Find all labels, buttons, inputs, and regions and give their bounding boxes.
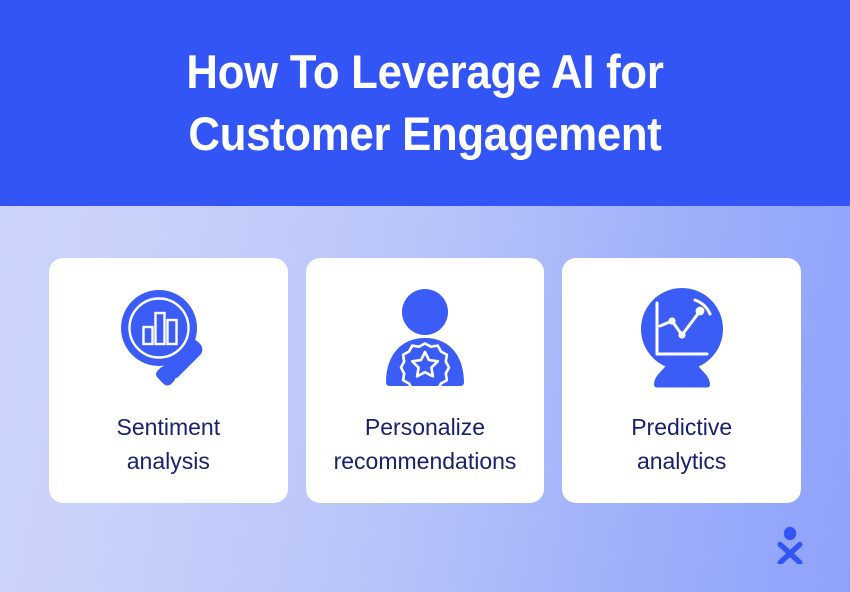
magnifying-glass-bar-chart-icon <box>109 280 227 398</box>
person-star-badge-icon <box>366 280 484 398</box>
card-label-line-1: Predictive <box>631 414 732 440</box>
card-label-line-2: analysis <box>127 448 210 474</box>
crystal-ball-line-chart-icon <box>623 280 741 398</box>
card-label-sentiment-analysis: Sentiment analysis <box>107 410 231 478</box>
page-title-line-1: How To Leverage AI for <box>186 45 663 98</box>
card-label-line-2: analytics <box>637 448 726 474</box>
cards-row: Sentiment analysis Personalize <box>49 258 801 503</box>
card-label-predictive-analytics: Predictive analytics <box>621 410 742 478</box>
card-label-line-2: recommendations <box>334 448 517 474</box>
card-sentiment-analysis[interactable]: Sentiment analysis <box>49 258 288 503</box>
card-predictive-analytics[interactable]: Predictive analytics <box>562 258 801 503</box>
card-personalize-recommendations[interactable]: Personalize recommendations <box>306 258 545 503</box>
card-label-personalize-recommendations: Personalize recommendations <box>324 410 527 478</box>
card-label-line-1: Personalize <box>365 414 485 440</box>
page-title: How To Leverage AI for Customer Engageme… <box>137 41 714 166</box>
infographic-canvas: How To Leverage AI for Customer Engageme… <box>0 0 850 592</box>
page-title-line-2: Customer Engagement <box>188 107 661 160</box>
card-label-line-1: Sentiment <box>117 414 221 440</box>
person-x-logo[interactable] <box>776 526 804 564</box>
header-band: How To Leverage AI for Customer Engageme… <box>0 0 850 206</box>
